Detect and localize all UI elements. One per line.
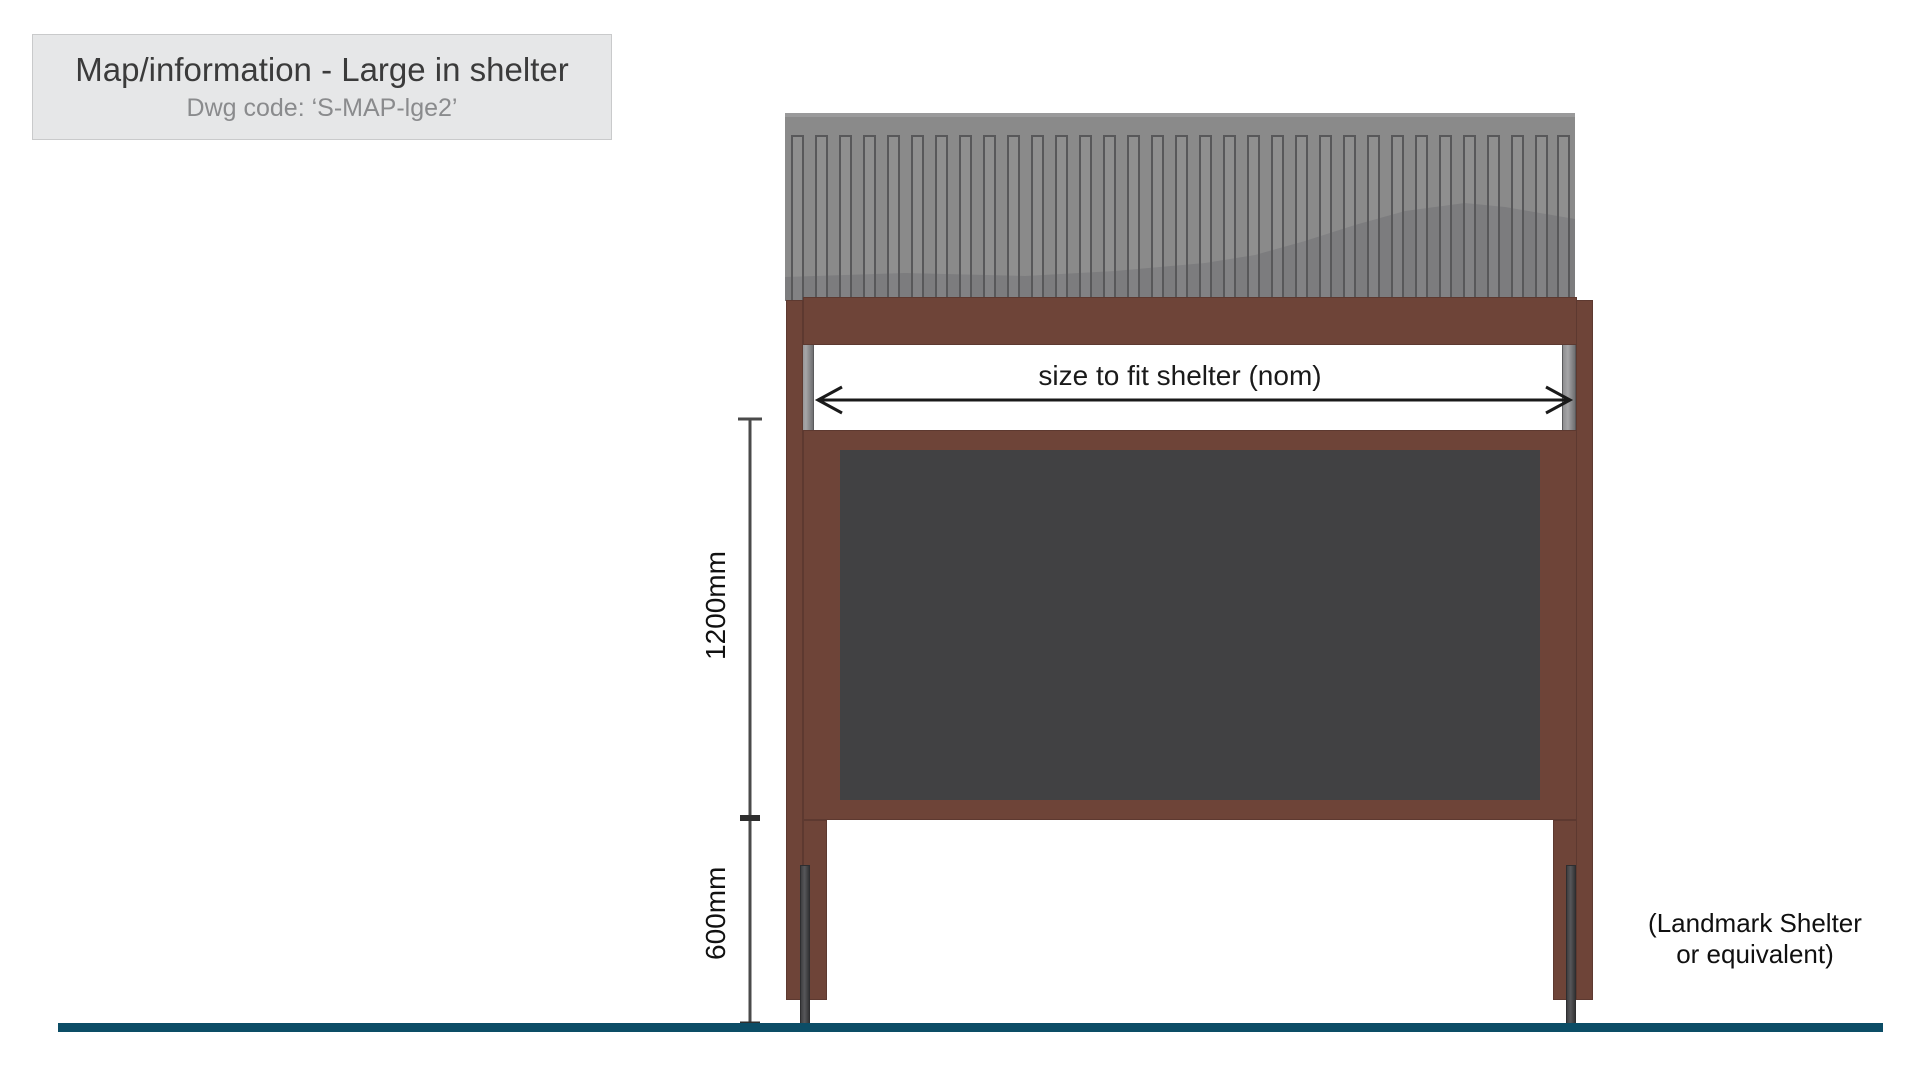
map-display-panel <box>840 450 1540 800</box>
vertical-dimension-line <box>730 415 770 1030</box>
drawing-code: Dwg code: ‘S-MAP-lge2’ <box>187 93 458 123</box>
shelter-note-line-2: or equivalent) <box>1610 939 1900 970</box>
shelter-note: (Landmark Shelter or equivalent) <box>1610 908 1900 969</box>
title-block: Map/information - Large in shelter Dwg c… <box>32 34 612 140</box>
shelter-leg-right <box>1566 865 1576 1027</box>
shelter-note-line-1: (Landmark Shelter <box>1610 908 1900 939</box>
ground-line <box>58 1023 1883 1032</box>
ground-clearance-dimension-label: 600mm <box>700 867 732 960</box>
drawing-canvas: Map/information - Large in shelter Dwg c… <box>0 0 1920 1080</box>
sign-leg-right <box>1576 300 1593 1000</box>
page-title: Map/information - Large in shelter <box>75 51 568 89</box>
roof-top-highlight <box>785 113 1575 117</box>
sign-height-dimension-label: 1200mm <box>700 551 732 660</box>
shelter-leg-left <box>800 865 810 1027</box>
sign-header-bar <box>803 297 1577 345</box>
shelter-roof <box>785 113 1575 301</box>
width-dimension-arrow <box>812 385 1576 415</box>
roof-slat-group <box>785 113 1575 301</box>
